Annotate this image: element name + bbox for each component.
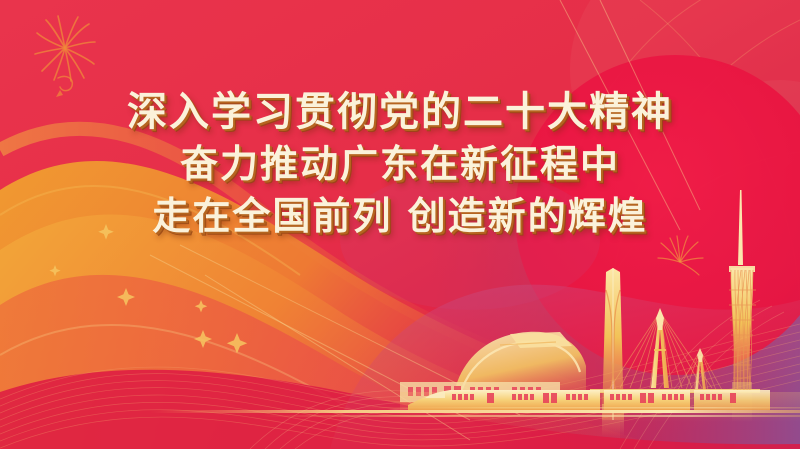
high-speed-train-icon — [0, 0, 800, 449]
celebration-banner: 深入学习贯彻党的二十大精神 奋力推动广东在新征程中 走在全国前列 创造新的辉煌 — [0, 0, 800, 449]
